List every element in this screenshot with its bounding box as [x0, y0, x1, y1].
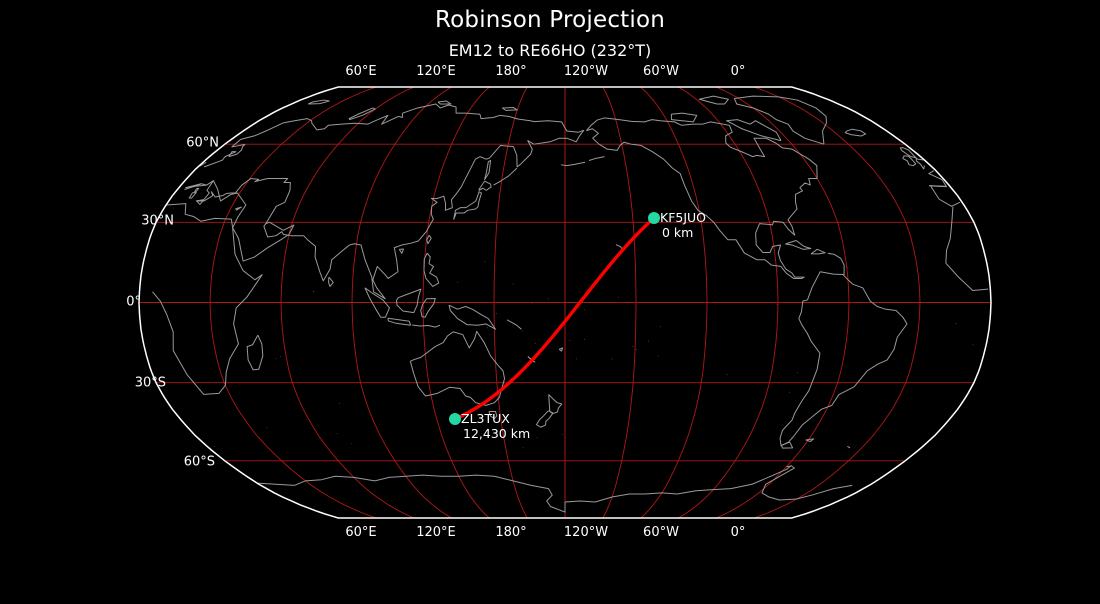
station-marker-kf5juo[interactable] — [648, 212, 660, 224]
marker-label-zl3tux: ZL3TUX — [461, 412, 510, 426]
lat-tick-1: 30°N — [0, 214, 174, 229]
robinson-map-svg[interactable] — [0, 0, 1100, 600]
map-area[interactable]: 60°E120°E180°120°W60°W0°60°E120°E180°120… — [0, 0, 1100, 600]
lat-tick-0: 60°N — [0, 136, 219, 151]
lat-tick-2: 0° — [0, 295, 141, 310]
lon-tick-bottom-3: 120°W — [564, 525, 608, 540]
station-marker-zl3tux[interactable] — [449, 413, 461, 425]
lon-tick-top-3: 120°W — [564, 64, 608, 79]
lon-tick-bottom-1: 120°E — [416, 525, 456, 540]
marker-label-kf5juo: KF5JUO — [660, 211, 706, 225]
lon-tick-bottom-5: 0° — [731, 525, 746, 540]
lon-tick-bottom-0: 60°E — [345, 525, 376, 540]
lon-tick-top-0: 60°E — [345, 64, 376, 79]
lat-tick-4: 60°S — [0, 455, 215, 470]
lon-tick-top-4: 60°W — [643, 64, 679, 79]
lon-tick-bottom-4: 60°W — [643, 525, 679, 540]
marker-distance-kf5juo: 0 km — [662, 226, 693, 240]
coastline-91 — [786, 466, 790, 467]
lon-tick-bottom-2: 180° — [495, 525, 526, 540]
lat-tick-3: 30°S — [0, 376, 166, 391]
lon-tick-top-5: 0° — [731, 64, 746, 79]
marker-distance-zl3tux: 12,430 km — [463, 427, 530, 441]
lon-tick-top-1: 120°E — [416, 64, 456, 79]
lon-tick-top-2: 180° — [495, 64, 526, 79]
figure-canvas: Robinson Projection EM12 to RE66HO (232°… — [0, 0, 1100, 600]
